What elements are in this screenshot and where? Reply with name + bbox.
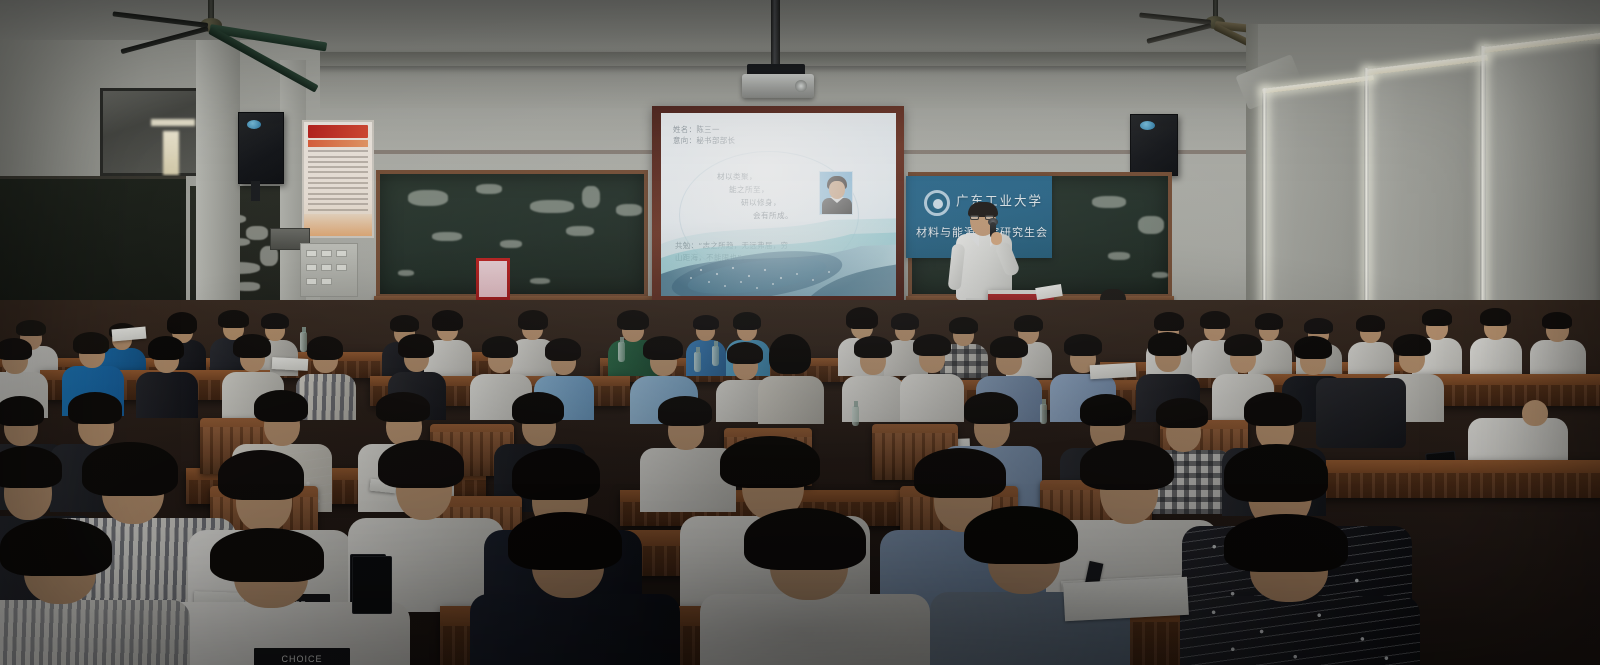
water-bottle-2[interactable]	[618, 342, 625, 362]
switch-3[interactable]	[336, 250, 347, 257]
poster-title-band	[308, 125, 368, 138]
audience-person-e4	[470, 532, 680, 665]
audience-person-e2	[0, 538, 190, 665]
audience-person-a23	[1530, 312, 1586, 378]
red-notice-card	[476, 258, 510, 300]
audience-person-e6-music-notes-front	[1180, 536, 1420, 665]
wall-pillar-left	[196, 40, 240, 340]
wall-speaker-left	[238, 112, 284, 184]
blackboard-left	[376, 170, 648, 298]
red-notice-card-inner	[479, 261, 507, 297]
switch-7[interactable]	[306, 278, 317, 285]
window-glare	[163, 131, 179, 175]
lecture-hall-photo: 广东工业大学 材料与能源学院研究生会 姓名：陈三一 意向：秘书部部长 材以类聚，…	[0, 0, 1600, 665]
switch-1[interactable]	[306, 250, 317, 257]
wall-speaker-right	[1130, 114, 1178, 176]
wall-switch-panel[interactable]	[300, 243, 358, 297]
switch-2[interactable]	[321, 250, 332, 257]
paper-row-b-2[interactable]	[1090, 363, 1137, 379]
speaker-logo-left	[247, 120, 261, 129]
window-glare-2	[151, 119, 195, 126]
university-emblem-icon	[924, 190, 950, 216]
poster-footer-graphic	[304, 214, 372, 236]
slide-header-line-1: 姓名：陈三一	[673, 124, 720, 135]
slide-quote-line-1: 材以类聚，	[717, 171, 757, 182]
speaker-logo-right	[1140, 121, 1155, 130]
slide-quote-line-2: 能之所至，	[729, 184, 769, 195]
slide-id-photo	[819, 171, 853, 215]
water-bottle-6[interactable]	[1040, 404, 1047, 424]
switch-4[interactable]	[306, 264, 317, 271]
smartphone-on-desk-front[interactable]	[352, 556, 392, 614]
projector-pole	[771, 0, 780, 72]
wall-notice-poster	[302, 120, 374, 238]
speaker-mount-left	[251, 181, 260, 201]
slide-quote-line-3: 研以修身，	[741, 197, 781, 208]
switch-8[interactable]	[321, 278, 332, 285]
projector-lens-icon	[795, 80, 807, 92]
audience-person-a22	[1470, 308, 1522, 378]
water-bottle-5[interactable]	[852, 406, 859, 426]
presenter-hand	[991, 232, 1002, 245]
backpack-on-desk[interactable]	[1316, 378, 1406, 448]
projection-screen-frame: 姓名：陈三一 意向：秘书部部长 材以类聚， 能之所至， 研以修身， 会有所成。 …	[652, 106, 904, 305]
audience-person-b11-ponytail	[758, 334, 824, 424]
left-window	[100, 88, 200, 176]
projection-screen: 姓名：陈三一 意向：秘书部部长 材以类聚， 能之所至， 研以修身， 会有所成。 …	[661, 113, 896, 296]
slide-wave-graphic	[661, 218, 896, 296]
audience-seating-area: CHOICE	[0, 300, 1600, 665]
paper-front-right[interactable]	[1063, 577, 1189, 621]
poster-subtitle-band	[308, 140, 368, 147]
audience-person-e3	[700, 530, 930, 665]
chalk-smudge	[246, 226, 268, 240]
switch-6[interactable]	[336, 264, 347, 271]
switch-5[interactable]	[321, 264, 332, 271]
slide-header-line-2: 意向：秘书部部长	[673, 135, 735, 146]
tee-graphic-text-front: CHOICE	[254, 648, 350, 665]
